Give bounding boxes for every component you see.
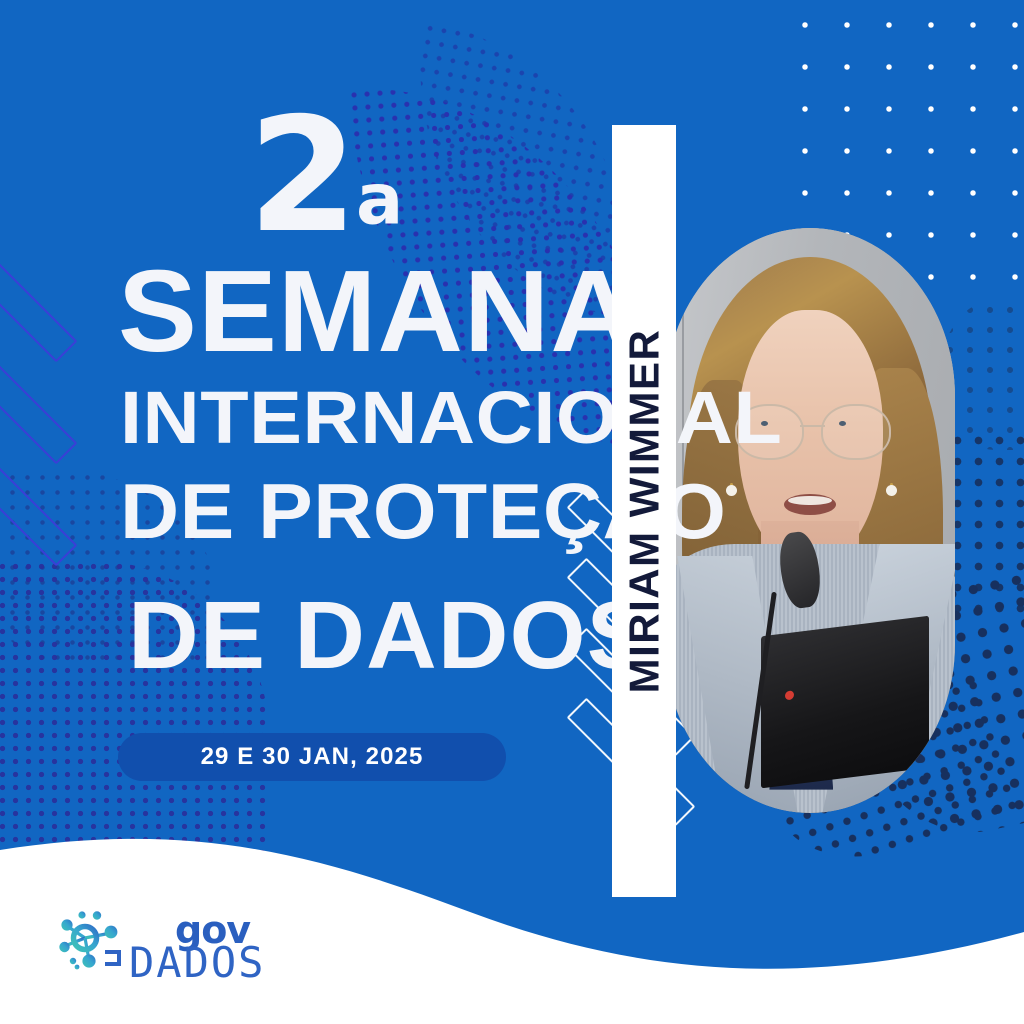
ordinal-number: 2 (248, 84, 356, 268)
logo-dados-text: DADOS (129, 938, 265, 987)
speaker-name: MIRIAM WIMMER (620, 329, 668, 694)
diagonal-bar (0, 424, 77, 567)
headline-line-de-dados: DE DADOS (128, 592, 653, 680)
headline-line-semana: SEMANA (118, 258, 637, 365)
molecule-network-icon (55, 906, 127, 978)
ordinal-row: 2a (248, 112, 403, 242)
diagonal-bar (0, 220, 77, 363)
poster-canvas: 2a SEMANA INTERNACIONAL DE PROTEÇÃO DE D… (0, 0, 1024, 1024)
photo-glasses-bridge (800, 425, 825, 428)
logo-wordmark: gov DADOS (129, 906, 289, 978)
photo-lens-right (821, 404, 891, 461)
date-badge-label: 29 E 30 JAN, 2025 (201, 743, 424, 771)
photo-laptop (761, 615, 929, 788)
ordinal-suffix: a (356, 159, 403, 241)
govdados-logo: gov DADOS (55, 897, 295, 987)
diagonal-bar (0, 322, 77, 465)
headline-line-internacional: INTERNACIONAL (120, 384, 782, 452)
